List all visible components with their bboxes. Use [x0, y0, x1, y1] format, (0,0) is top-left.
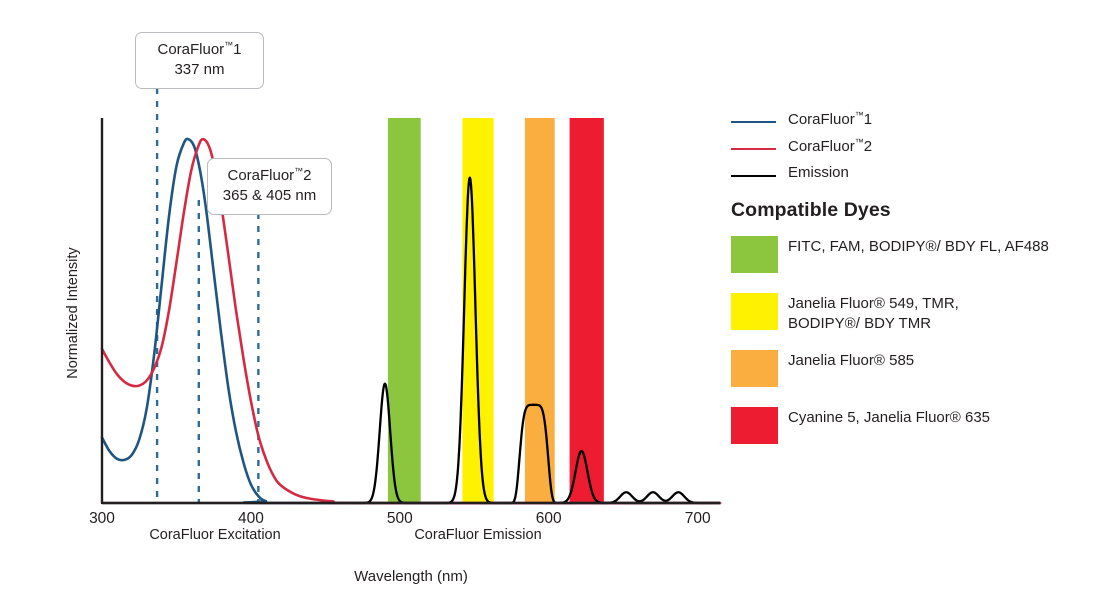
dye-row[interactable]: Cyanine 5, Janelia Fluor® 635: [731, 407, 1103, 464]
dye-color-swatch: [731, 236, 778, 273]
dye-label: Janelia Fluor® 549, TMR, BODIPY®/ BDY TM…: [788, 294, 959, 334]
x-tick-label-600: 600: [536, 510, 562, 527]
x-tick-label-500: 500: [387, 510, 413, 527]
yellow-band: [462, 118, 493, 503]
callout-corafluor2-index: 2: [303, 167, 311, 184]
callout-corafluor1: CoraFluor™1 337 nm: [135, 32, 264, 89]
legend-label: CoraFluor™2: [788, 137, 872, 155]
callout-corafluor1-index: 1: [233, 41, 241, 58]
y-axis-title: Normalized Intensity: [65, 213, 81, 413]
trademark-icon: ™: [855, 137, 864, 147]
callout-corafluor2-title: CoraFluor™2: [218, 166, 321, 186]
dye-color-swatch: [731, 293, 778, 330]
callout-corafluor1-title: CoraFluor™1: [146, 40, 253, 60]
trademark-icon: ™: [224, 40, 233, 50]
compatible-dyes-heading: Compatible Dyes: [731, 199, 891, 222]
legend-item-corafluor1[interactable]: CoraFluor™1: [731, 110, 1101, 137]
compatible-dyes-list: FITC, FAM, BODIPY®/ BDY FL, AF488Janelia…: [731, 236, 1103, 464]
callout-corafluor2-value: 365 & 405 nm: [218, 186, 321, 206]
legend-line-swatch: [731, 148, 776, 150]
callout-corafluor2-name: CoraFluor: [227, 167, 294, 184]
dye-color-swatch: [731, 350, 778, 387]
trademark-icon: ™: [294, 166, 303, 176]
x-tick-label-400: 400: [238, 510, 264, 527]
dye-label: Janelia Fluor® 585: [788, 351, 914, 371]
dye-color-swatch: [731, 407, 778, 444]
x-axis-title: Wavelength (nm): [291, 568, 531, 585]
callout-corafluor1-name: CoraFluor: [157, 41, 224, 58]
dye-row[interactable]: Janelia Fluor® 585: [731, 350, 1103, 407]
dye-row[interactable]: Janelia Fluor® 549, TMR, BODIPY®/ BDY TM…: [731, 293, 1103, 350]
legend-line-swatch: [731, 121, 776, 123]
legend-item-corafluor2[interactable]: CoraFluor™2: [731, 137, 1101, 164]
trademark-icon: ™: [855, 110, 864, 120]
axis-section-excitation: CoraFluor Excitation: [95, 527, 335, 543]
legend-line-swatch: [731, 175, 776, 177]
legend-label: CoraFluor™1: [788, 110, 872, 128]
series-legend: CoraFluor™1CoraFluor™2Emission: [731, 110, 1101, 191]
spectra-figure: 300400500600700 CoraFluor™1 337 nm CoraF…: [0, 0, 1110, 612]
green-band: [388, 118, 421, 503]
callout-corafluor1-value: 337 nm: [146, 60, 253, 80]
red-band: [570, 118, 604, 503]
legend-item-emission[interactable]: Emission: [731, 164, 1101, 191]
x-tick-label-300: 300: [89, 510, 115, 527]
x-tick-label-700: 700: [685, 510, 711, 527]
legend-label: Emission: [788, 164, 849, 181]
dye-label: Cyanine 5, Janelia Fluor® 635: [788, 408, 990, 428]
callout-corafluor2: CoraFluor™2 365 & 405 nm: [207, 158, 332, 215]
dye-label: FITC, FAM, BODIPY®/ BDY FL, AF488: [788, 237, 1049, 257]
orange-band: [525, 118, 555, 503]
axis-section-emission: CoraFluor Emission: [358, 527, 598, 543]
dye-row[interactable]: FITC, FAM, BODIPY®/ BDY FL, AF488: [731, 236, 1103, 293]
